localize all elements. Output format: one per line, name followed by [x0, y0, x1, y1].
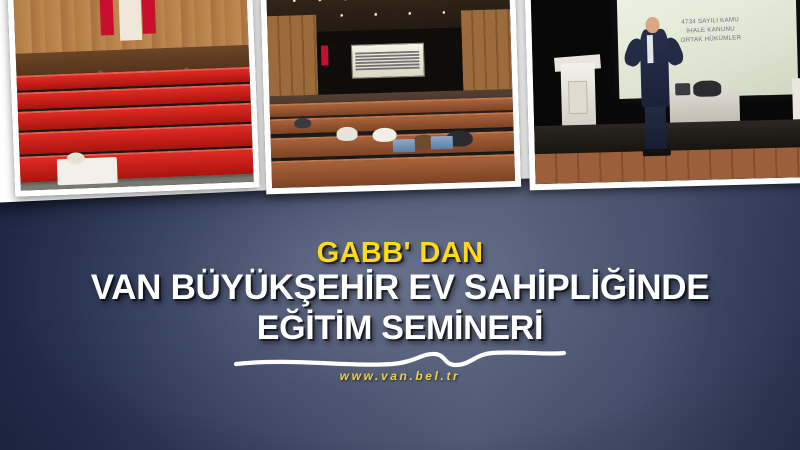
photo-auditorium-rear-view[interactable]	[260, 0, 521, 194]
kicker-text: GABB' DAN	[0, 238, 800, 268]
turkish-flag-icon	[142, 0, 156, 34]
photo-strip: 4734 SAYILI KAMU İHALE KANUNU ORTAK HÜKÜ…	[0, 0, 800, 216]
seat-rows	[16, 64, 253, 190]
speaker-shirt	[647, 36, 653, 64]
photo-speaker-on-stage[interactable]: 4734 SAYILI KAMU İHALE KANUNU ORTAK HÜKÜ…	[523, 0, 800, 190]
headline-line-1: VAN BÜYÜKŞEHİR EV SAHİPLİĞİNDE	[0, 268, 800, 309]
speaker-body	[639, 28, 669, 107]
podium-emblem	[568, 81, 587, 114]
hanging-banner	[118, 0, 142, 41]
website-url[interactable]: www.van.bel.tr	[0, 369, 800, 383]
equipment-box	[675, 83, 691, 95]
title-block: GABB' DAN VAN BÜYÜKŞEHİR EV SAHİPLİĞİNDE…	[0, 238, 800, 383]
seat-rows	[270, 97, 515, 188]
speaker-head	[645, 17, 659, 34]
photo-auditorium-audience[interactable]	[7, 0, 260, 197]
turkish-flag-icon	[321, 46, 329, 66]
front-table	[57, 157, 118, 185]
projection-screen-text	[356, 50, 420, 71]
turkish-flag-icon	[100, 0, 114, 35]
speaker-shoes	[643, 148, 671, 156]
speaker-legs	[644, 102, 667, 153]
bag-on-table	[693, 80, 721, 97]
headline-line-2: EĞİTİM SEMİNERİ	[0, 309, 800, 349]
